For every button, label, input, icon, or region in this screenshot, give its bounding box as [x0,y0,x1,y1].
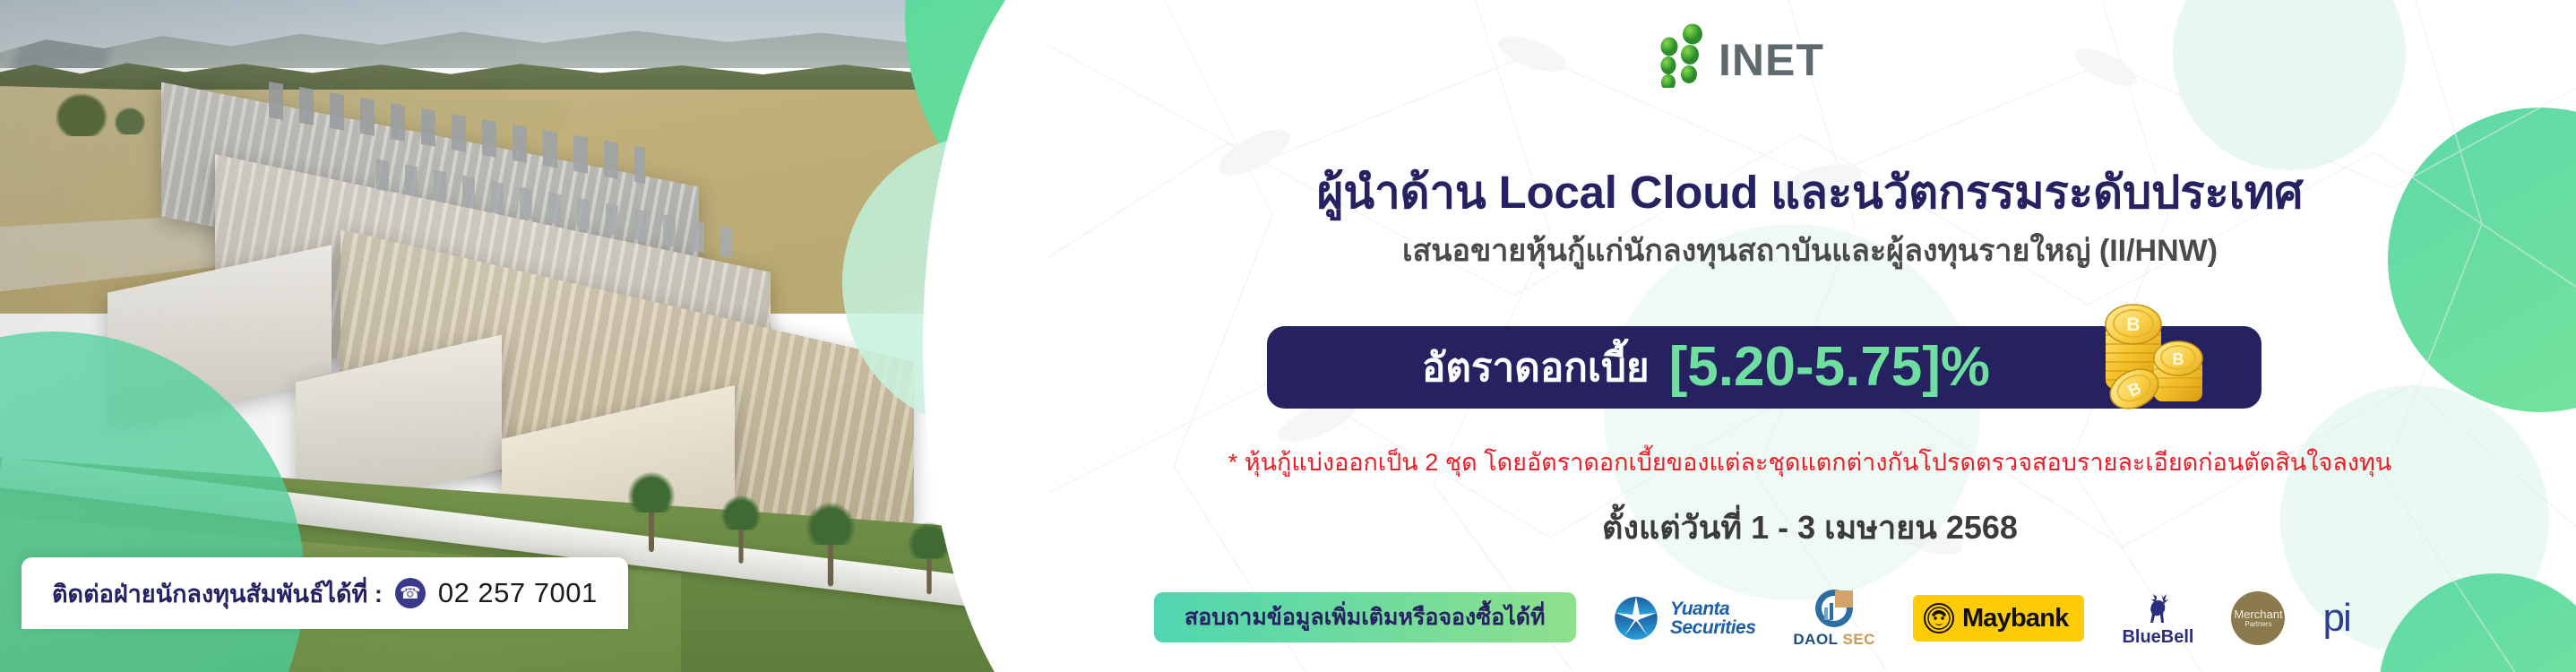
contact-phone-number[interactable]: 02 257 7001 [438,577,598,609]
partner-logo-maybank[interactable]: Maybank [1913,595,2085,642]
daol-wordmark: DAOL SEC [1793,631,1875,649]
daol-line2: SEC [1842,631,1874,648]
offering-dates: ตั้งแต่วันที่ 1 - 3 เมษายน 2568 [1048,502,2572,553]
yuanta-line1: Yuanta [1670,599,1755,618]
daol-pie-icon [1813,588,1856,629]
svg-text:B: B [2173,350,2184,368]
page-title: ผู้นำด้าน Local Cloud และนวัตกรรมระดับปร… [1048,156,2572,228]
bitcoin-coins-icon: B B B [2081,292,2215,413]
inquiry-cta-button[interactable]: สอบถามข้อมูลเพิ่มเติมหรือจองซื้อได้ที่ [1154,592,1576,642]
interest-rate-label: อัตราดอกเบี้ย [1422,336,1650,399]
disclaimer-text: * หุ้นกู้แบ่งออกเป็น 2 ชุด โดยอัตราดอกเบ… [1048,443,2572,481]
inet-bond-promo-banner: INET ผู้นำด้าน Local Cloud และนวัตกรรมระ… [0,0,2576,672]
partner-logo-daol[interactable]: DAOL SEC [1793,588,1875,649]
investor-relations-contact: ติดต่อฝ่ายนักลงทุนสัมพันธ์ได้ที่ : ☎ 02 … [22,557,628,629]
partner-logo-bluebell[interactable]: BlueBell [2122,589,2193,648]
yuanta-wordmark: Yuanta Securities [1670,599,1755,637]
yuanta-line2: Securities [1670,618,1755,637]
page-subtitle: เสนอขายหุ้นกู้แก่นักลงทุนสถาบันและผู้ลงท… [1048,226,2572,274]
partner-logos: Yuanta Securities DAOL SEC [1613,581,2509,656]
inet-logo: INET [1654,23,1851,88]
inet-wordmark: INET [1719,38,1824,82]
pi-wordmark: pi [2322,596,2349,641]
bluebell-deer-icon [2140,589,2175,626]
partner-logo-yuanta[interactable]: Yuanta Securities [1613,595,1755,642]
interest-rate-block: อัตราดอกเบี้ย [5.20-5.75]% [1267,326,2262,409]
inet-dots-icon [1654,23,1719,88]
phone-icon: ☎ [395,578,426,608]
maybank-wordmark: Maybank [1962,604,2069,633]
interest-rate-value: [5.20-5.75]% [1669,340,1990,395]
partner-logo-pi[interactable]: pi [2322,596,2349,641]
maybank-tiger-icon [1924,603,1954,633]
partner-logo-merchant-partners[interactable]: Merchant Partners [2231,591,2285,645]
contact-label: ติดต่อฝ่ายนักลงทุนสัมพันธ์ได้ที่ : [52,574,383,613]
merchant-line1: Merchant [2234,608,2282,621]
bluebell-wordmark: BlueBell [2122,627,2193,648]
merchant-line2: Partners [2244,621,2271,628]
daol-line1: DAOL [1793,631,1838,648]
svg-text:B: B [2126,314,2140,335]
yuanta-star-icon [1613,595,1659,642]
